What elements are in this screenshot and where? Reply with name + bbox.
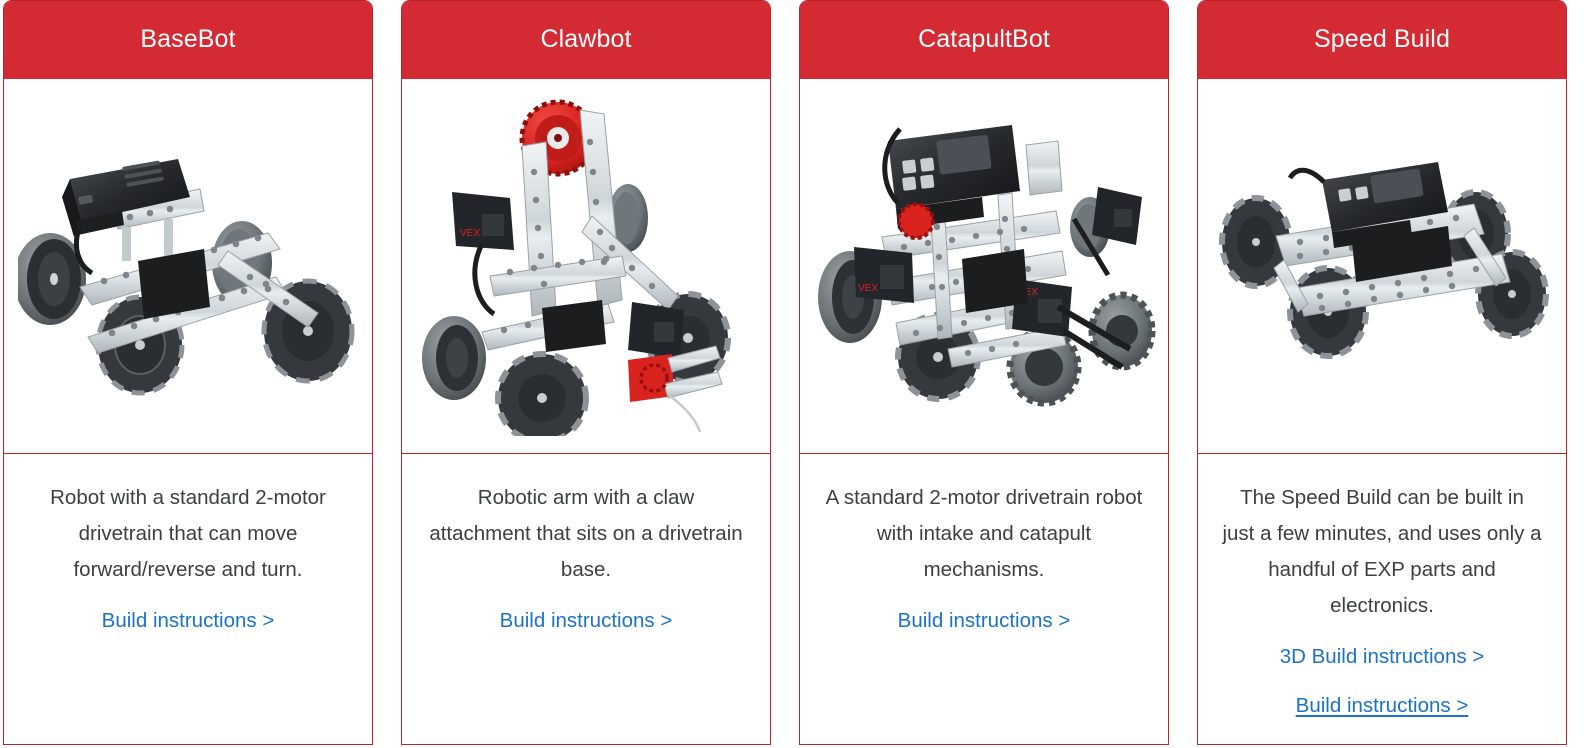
- basebot-robot-photo: [4, 79, 372, 454]
- motor: VEX: [452, 192, 514, 250]
- card-body-catapultbot: A standard 2-motor drivetrain robot with…: [800, 454, 1168, 658]
- card-description: A standard 2-motor drivetrain robot with…: [824, 480, 1144, 588]
- card-title: BaseBot: [140, 27, 235, 52]
- card-links: 3D Build instructions > Build instructio…: [1216, 640, 1548, 723]
- card-body-speed-build: The Speed Build can be built in just a f…: [1198, 454, 1566, 743]
- svg-text:VEX: VEX: [460, 228, 480, 239]
- catapultbot-robot-photo: VEX VEX: [800, 79, 1168, 454]
- card-header-clawbot: Clawbot: [401, 0, 771, 79]
- motor: VEX: [854, 247, 914, 303]
- catapultbot-illustration: VEX VEX: [812, 99, 1157, 434]
- card-body-basebot: Robot with a standard 2-motor drivetrain…: [4, 454, 372, 658]
- clawbot-illustration: VEX: [416, 96, 756, 436]
- robot-card-speed-build[interactable]: Speed Build: [1197, 0, 1567, 745]
- wheel: [422, 316, 486, 400]
- card-title: Speed Build: [1314, 27, 1450, 52]
- card-description: Robot with a standard 2-motor drivetrain…: [28, 480, 348, 588]
- 3d-build-instructions-link[interactable]: 3D Build instructions >: [1280, 640, 1485, 674]
- robot-card-basebot[interactable]: BaseBot: [3, 0, 373, 745]
- card-title: Clawbot: [540, 27, 631, 52]
- robot-card-grid: BaseBot: [0, 0, 1589, 748]
- speed-build-robot-photo: [1198, 79, 1566, 454]
- card-links: Build instructions >: [818, 604, 1150, 638]
- svg-text:VEX: VEX: [858, 283, 878, 294]
- card-header-basebot: BaseBot: [3, 0, 373, 79]
- clawbot-robot-photo: VEX: [402, 79, 770, 454]
- motor: [628, 302, 684, 358]
- red-gear: [899, 204, 933, 238]
- card-description: The Speed Build can be built in just a f…: [1222, 480, 1542, 624]
- card-description: Robotic arm with a claw attachment that …: [426, 480, 746, 588]
- speed-build-illustration: [1212, 116, 1552, 416]
- robot-card-catapultbot[interactable]: CatapultBot: [799, 0, 1169, 745]
- claw-mechanism: [628, 346, 722, 432]
- card-links: Build instructions >: [22, 604, 354, 638]
- card-title: CatapultBot: [918, 27, 1050, 52]
- robot-card-clawbot[interactable]: Clawbot: [401, 0, 771, 745]
- build-instructions-link[interactable]: Build instructions >: [500, 604, 673, 638]
- build-instructions-link[interactable]: Build instructions >: [898, 604, 1071, 638]
- mecanum-wheel: [498, 354, 586, 436]
- card-header-catapultbot: CatapultBot: [799, 0, 1169, 79]
- motor: [1092, 187, 1142, 245]
- card-links: Build instructions >: [420, 604, 752, 638]
- card-body-clawbot: Robotic arm with a claw attachment that …: [402, 454, 770, 658]
- card-header-speed-build: Speed Build: [1197, 0, 1567, 79]
- build-instructions-link[interactable]: Build instructions >: [1296, 689, 1469, 723]
- build-instructions-link[interactable]: Build instructions >: [102, 604, 275, 638]
- basebot-illustration: [18, 101, 358, 431]
